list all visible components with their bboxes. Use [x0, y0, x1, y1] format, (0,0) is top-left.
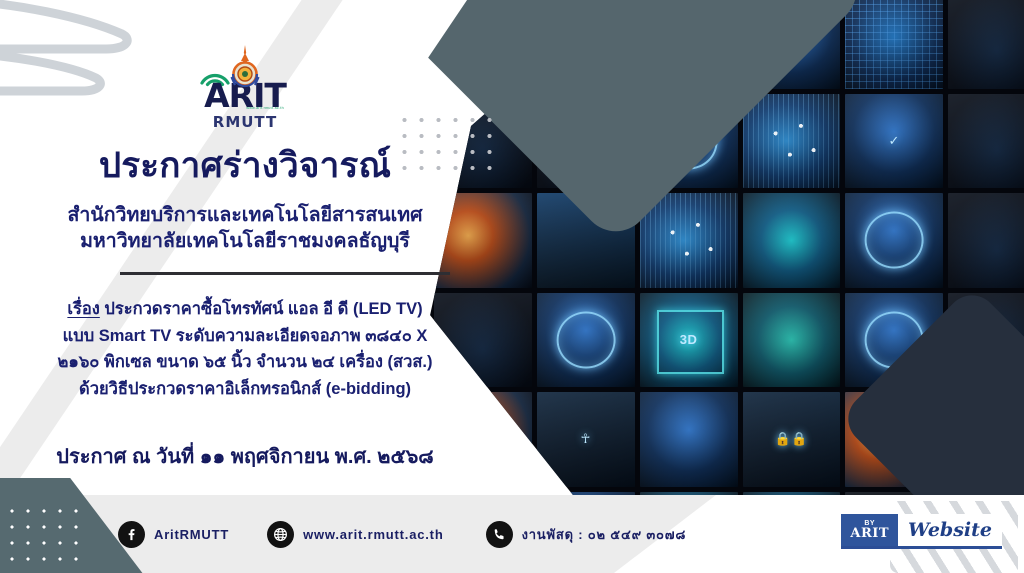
footer-phone[interactable]: งานพัสดุ : ๐๒ ๕๔๙ ๓๐๗๘ — [486, 521, 687, 548]
poster-content: ARIT www.arit.rmutt.ac.th RMUTT ประกาศร่… — [0, 0, 490, 505]
footer-website[interactable]: www.arit.rmutt.ac.th — [267, 521, 443, 548]
organization-line-1: สำนักวิทยบริการและเทคโนโลยีสารสนเทศ — [0, 203, 490, 229]
fingerprint-icon: ☥ — [537, 392, 635, 487]
badge-left-block: BY ARIT — [841, 514, 898, 546]
collage-tile — [743, 193, 841, 288]
collage-tile-brain — [845, 193, 943, 288]
three-d-label: 3D — [640, 293, 738, 388]
collage-tile — [743, 293, 841, 388]
cloud-icon — [556, 311, 615, 368]
badge-arit-label: ARIT — [850, 527, 889, 540]
collage-tile — [948, 193, 1024, 288]
globe-icon[interactable] — [267, 521, 294, 548]
organization-line-2: มหาวิทยาลัยเทคโนโลยีราชมงคลธัญบุรี — [0, 229, 490, 255]
bar-chart-icon — [554, 227, 617, 270]
brain-icon — [865, 212, 924, 269]
announcement-poster: ✓ 3D — [0, 0, 1024, 573]
website-label: www.arit.rmutt.ac.th — [303, 527, 443, 542]
phone-label: งานพัสดุ : ๐๒ ๕๔๙ ๓๐๗๘ — [522, 524, 687, 545]
footer-facebook[interactable]: AritRMUTT — [118, 521, 229, 548]
collage-tile-fingerprint: ☥ — [537, 392, 635, 487]
collage-tile — [948, 0, 1024, 89]
arit-logo: ARIT www.arit.rmutt.ac.th RMUTT — [0, 44, 490, 131]
divider — [120, 272, 450, 275]
collage-tile — [948, 94, 1024, 189]
subject-line-2: แบบ Smart TV ระดับความละเอียดจอภาพ ๓๘๔๐ … — [18, 323, 472, 350]
collage-tile-3d: 3D — [640, 293, 738, 388]
collage-tile-locks: 🔒🔒 — [743, 392, 841, 487]
world-map-icon — [752, 103, 830, 179]
lock-icon: 🔒🔒 — [743, 392, 841, 487]
subject-line-1-text: ประกวดราคาซื้อโทรทัศน์ แอล อี ดี (LED TV… — [100, 300, 423, 318]
subject-line-3: ๒๑๖๐ พิกเซล ขนาด ๖๕ นิ้ว จำนวน ๒๔ เครื่อ… — [18, 349, 472, 376]
announcement-date: ประกาศ ณ วันที่ ๑๑ พฤศจิกายน พ.ศ. ๒๕๖๘ — [0, 440, 490, 472]
subject-line-4: ด้วยวิธีประกวดราคาอิเล็กทรอนิกส์ (e-bidd… — [18, 376, 472, 403]
world-map-icon — [649, 202, 727, 278]
rmutt-emblem-icon — [224, 44, 266, 88]
phone-icon[interactable] — [486, 521, 513, 548]
page-title: ประกาศร่างวิจารณ์ — [0, 138, 490, 193]
arit-logo-url: www.arit.rmutt.ac.th — [246, 106, 284, 110]
badge-website-label: Website — [898, 514, 1002, 546]
organization-name: สำนักวิทยบริการและเทคโนโลยีสารสนเทศ มหาว… — [0, 203, 490, 254]
collage-tile — [640, 392, 738, 487]
facebook-label: AritRMUTT — [154, 527, 229, 542]
rmutt-subtitle: RMUTT — [213, 113, 277, 131]
subject-line-1: เรื่อง ประกวดราคาซื้อโทรทัศน์ แอล อี ดี … — [18, 296, 472, 323]
collage-tile — [845, 0, 943, 89]
collage-tile-world — [640, 193, 738, 288]
by-arit-website-badge[interactable]: BY ARIT Website — [841, 514, 1002, 549]
collage-tile-cloud — [537, 293, 635, 388]
subject-block: เรื่อง ประกวดราคาซื้อโทรทัศน์ แอล อี ดี … — [18, 296, 472, 403]
collage-tile-shield: ✓ — [845, 94, 943, 189]
shield-icon: ✓ — [845, 94, 943, 189]
facebook-icon[interactable] — [118, 521, 145, 548]
collage-tile-world — [743, 94, 841, 189]
subject-label: เรื่อง — [67, 300, 99, 318]
